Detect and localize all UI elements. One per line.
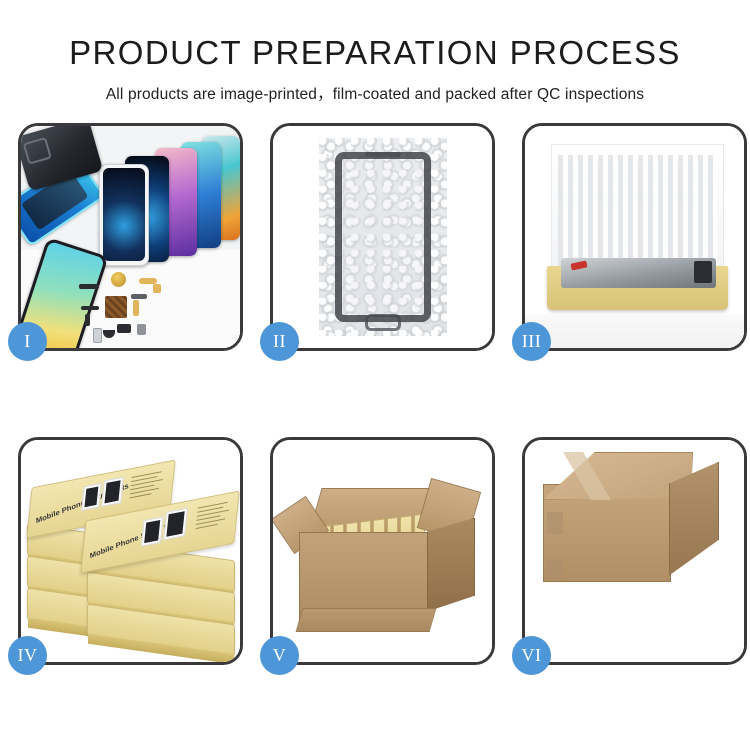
- phone-white-frame-icon: [99, 164, 149, 266]
- step-badge-2: II: [260, 322, 299, 361]
- box-spec-lines-1: [129, 470, 166, 501]
- foam-sheet-icon: [551, 144, 724, 274]
- process-step-panel-2[interactable]: II: [270, 123, 495, 351]
- surface-shadow: [525, 314, 744, 348]
- process-step-panel-5[interactable]: V: [270, 437, 495, 665]
- box-spec-lines-2: [195, 501, 232, 532]
- process-step-grid: I II III: [10, 123, 740, 665]
- step-badge-6: VI: [512, 636, 551, 675]
- page-subtitle: All products are image-printed，film-coat…: [0, 82, 750, 104]
- kraft-box-tray-icon: [547, 266, 728, 310]
- earpiece-slot-icon: [365, 152, 401, 157]
- carton-side-icon: [427, 518, 475, 612]
- bubble-wrap-icon: [319, 138, 447, 336]
- step-badge-1: I: [8, 322, 47, 361]
- step-5-image: [273, 440, 492, 662]
- screen-outline-icon: [335, 152, 431, 322]
- step-badge-4: IV: [8, 636, 47, 675]
- process-step-panel-1[interactable]: I: [18, 123, 243, 351]
- step-badge-3: III: [512, 322, 551, 361]
- step-badge-5: V: [260, 636, 299, 675]
- page-header: PRODUCT PREPARATION PROCESS All products…: [0, 0, 750, 104]
- process-step-panel-4[interactable]: Mobile Phone Spare Parts Mobile Phone Sp…: [18, 437, 243, 665]
- process-step-panel-6[interactable]: VI: [522, 437, 747, 665]
- spare-parts-cluster: [77, 272, 173, 342]
- box-stack-icon: Mobile Phone Spare Parts Mobile Phone Sp…: [25, 446, 240, 654]
- tape-mark-upper-icon: [547, 512, 563, 534]
- page-title: PRODUCT PREPARATION PROCESS: [0, 36, 750, 71]
- step-3-image: [525, 126, 744, 348]
- step-4-image: Mobile Phone Spare Parts Mobile Phone Sp…: [21, 440, 240, 662]
- step-2-image: [273, 126, 492, 348]
- step-1-image: [21, 126, 240, 348]
- tape-mark-lower-icon: [547, 560, 563, 580]
- step-6-image: [525, 440, 744, 662]
- carton-front-flap-icon: [296, 608, 437, 632]
- process-step-panel-3[interactable]: III: [522, 123, 747, 351]
